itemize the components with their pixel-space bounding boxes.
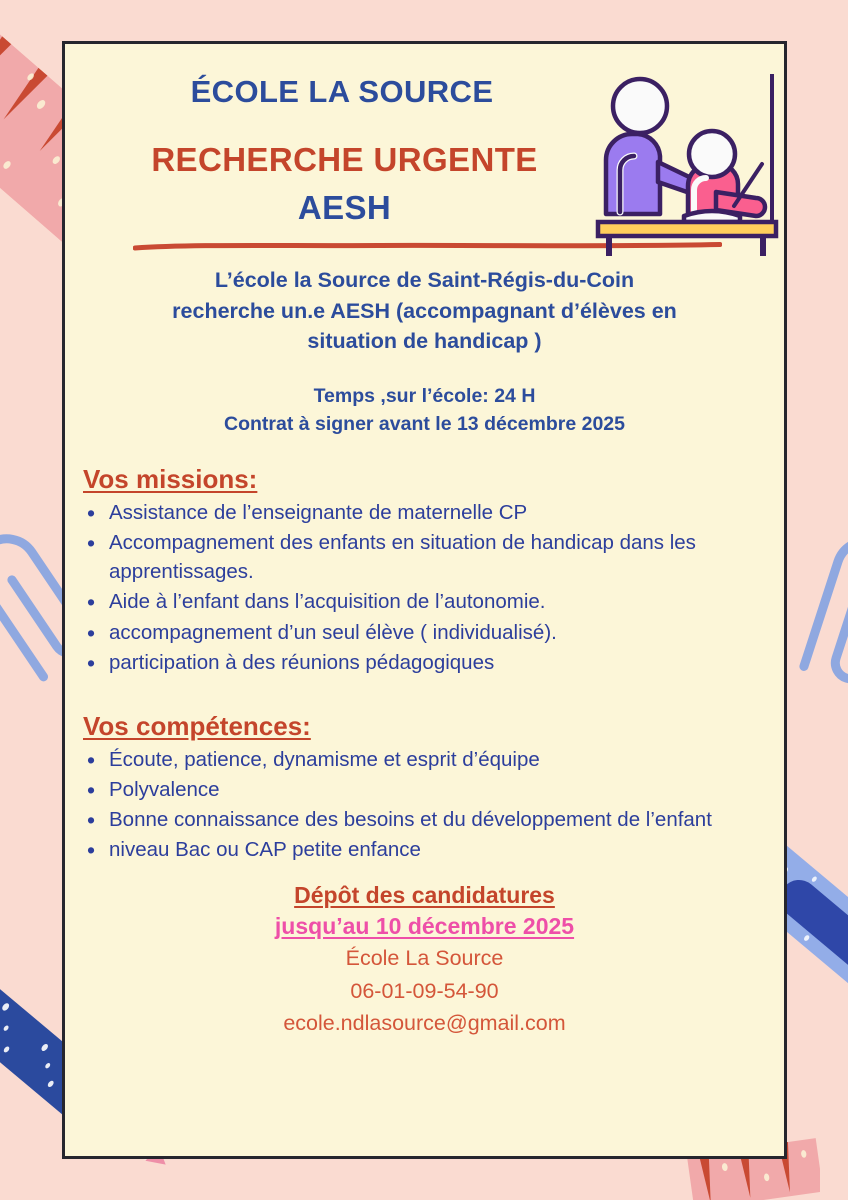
intro-line: L’école la Source de Saint-Régis-du-Coin <box>105 265 744 296</box>
missions-list: Assistance de l’enseignante de maternell… <box>83 498 766 677</box>
application-heading: Dépôt des candidatures <box>65 882 784 909</box>
poster-panel: ÉCOLE LA SOURCE RECHERCHE URGENTE AESH L… <box>62 41 787 1159</box>
skills-section: Vos compétences: Écoute, patience, dynam… <box>83 711 766 864</box>
list-item: Polyvalence <box>83 775 766 804</box>
organization-name: École La Source <box>65 944 784 973</box>
intro-line: recherche un.e AESH (accompagnant d’élèv… <box>105 296 744 327</box>
list-item: niveau Bac ou CAP petite enfance <box>83 835 766 864</box>
application-deadline: jusqu’au 10 décembre 2025 <box>65 913 784 940</box>
time-contract-block: Temps ,sur l’école: 24 H Contrat à signe… <box>95 382 754 439</box>
list-item: Bonne connaissance des besoins et du dév… <box>83 805 766 834</box>
list-item: Accompagnement des enfants en situation … <box>83 528 766 586</box>
list-item: Assistance de l’enseignante de maternell… <box>83 498 766 527</box>
missions-heading: Vos missions: <box>83 464 257 495</box>
contract-deadline: Contrat à signer avant le 13 décembre 20… <box>95 410 754 438</box>
contact-footer: Dépôt des candidatures jusqu’au 10 décem… <box>65 882 784 1038</box>
skills-list: Écoute, patience, dynamisme et esprit d’… <box>83 745 766 864</box>
contact-phone[interactable]: 06-01-09-54-90 <box>65 977 784 1006</box>
missions-section: Vos missions: Assistance de l’enseignant… <box>83 464 766 677</box>
intro-line: situation de handicap ) <box>105 326 744 357</box>
skills-heading: Vos compétences: <box>83 711 311 742</box>
list-item: participation à des réunions pédagogique… <box>83 648 766 677</box>
list-item: Écoute, patience, dynamisme et esprit d’… <box>83 745 766 774</box>
poster-canvas: ÉCOLE LA SOURCE RECHERCHE URGENTE AESH L… <box>0 0 848 1200</box>
work-time: Temps ,sur l’école: 24 H <box>95 382 754 410</box>
adult-helping-child-illustration <box>584 74 784 259</box>
list-item: Aide à l’enfant dans l’acquisition de l’… <box>83 587 766 616</box>
list-item: accompagnement d’un seul élève ( individ… <box>83 618 766 647</box>
contact-email[interactable]: ecole.ndlasource@gmail.com <box>65 1009 784 1038</box>
intro-paragraph: L’école la Source de Saint-Régis-du-Coin… <box>105 265 744 357</box>
